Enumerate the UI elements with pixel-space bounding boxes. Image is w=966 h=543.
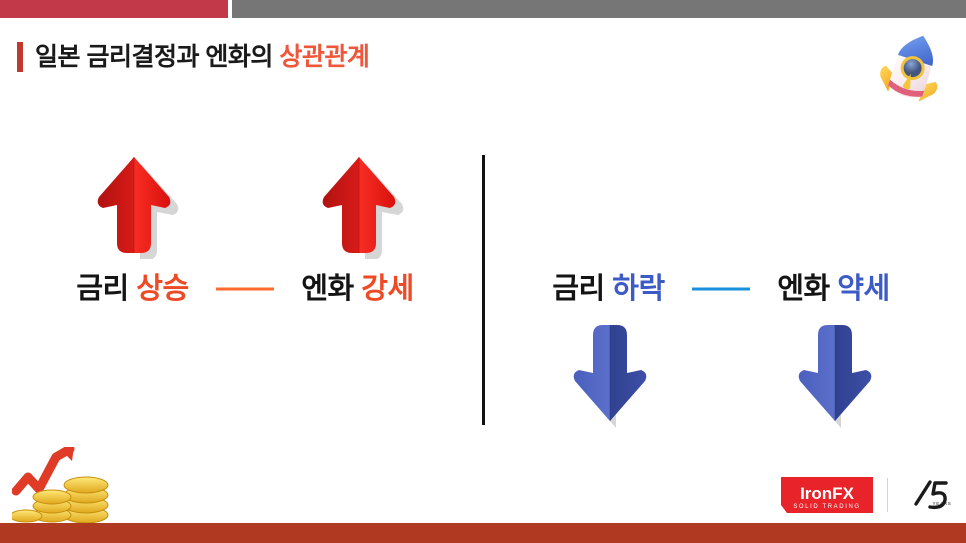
anniversary-years-word: YEARS [932, 501, 951, 506]
ironfx-logo: IronFX SOLID TRADING [781, 475, 873, 515]
title-text: 일본 금리결정과 엔화의 상관관계 [35, 45, 369, 70]
label-yen-strong: 엔화 강세 [301, 275, 413, 304]
footer-logos: IronFX SOLID TRADING YEARS [781, 474, 954, 516]
arrow-slot-cause [20, 150, 245, 260]
label-cell-cause: 금리 상승 [20, 275, 245, 304]
ironfx-brand-name: IronFX [800, 484, 854, 503]
label-rate-down-plain: 금리 [552, 273, 612, 305]
connector-line-up [216, 288, 274, 291]
arrow-slot-cause [496, 320, 721, 430]
label-row-rate-up: 금리 상승 엔화 강세 [20, 262, 470, 316]
label-yen-strong-plain: 엔화 [301, 273, 361, 305]
arrow-up-icon [312, 151, 404, 259]
slide-canvas: 일본 금리결정과 엔화의 상관관계 [0, 0, 966, 543]
label-yen-weak-highlight: 약세 [837, 273, 889, 305]
label-rate-up: 금리 상승 [76, 275, 188, 304]
arrow-row-down [496, 320, 946, 430]
bottom-accent-bar [0, 523, 966, 543]
label-rate-down-highlight: 하락 [612, 273, 664, 305]
panel-divider [482, 155, 485, 425]
topbar-red-accent [0, 0, 228, 18]
label-cell-cause: 금리 하락 [496, 275, 721, 304]
title-text-highlight: 상관관계 [279, 43, 369, 71]
label-cell-effect: 엔화 약세 [721, 275, 946, 304]
label-row-rate-down: 금리 하락 엔화 약세 [496, 262, 946, 316]
page-title: 일본 금리결정과 엔화의 상관관계 [17, 38, 369, 76]
relationship-panel-rate-down: 금리 하락 엔화 약세 [496, 150, 946, 440]
label-rate-up-plain: 금리 [76, 273, 136, 305]
label-cell-effect: 엔화 강세 [245, 275, 470, 304]
ironfx-brand-tagline: SOLID TRADING [793, 504, 860, 510]
logo-separator [887, 478, 888, 512]
label-yen-strong-highlight: 강세 [361, 273, 413, 305]
label-yen-weak: 엔화 약세 [777, 275, 889, 304]
anniversary-15-years-icon: YEARS [902, 476, 954, 514]
title-text-plain: 일본 금리결정과 엔화의 [35, 43, 279, 71]
arrow-down-icon [563, 321, 655, 429]
rocket-icon [872, 26, 952, 114]
arrow-slot-effect [721, 320, 946, 430]
coins-growth-icon [12, 447, 116, 525]
label-rate-up-highlight: 상승 [136, 273, 188, 305]
title-accent-bar [17, 42, 23, 72]
topbar-gray-accent [232, 0, 966, 18]
arrow-up-icon [87, 151, 179, 259]
arrow-down-icon [788, 321, 880, 429]
arrow-slot-effect [245, 150, 470, 260]
relationship-panel-rate-up: 금리 상승 엔화 강세 [20, 150, 470, 440]
arrow-row-up [20, 150, 470, 260]
label-yen-weak-plain: 엔화 [777, 273, 837, 305]
connector-line-down [692, 288, 750, 291]
label-rate-down: 금리 하락 [552, 275, 664, 304]
